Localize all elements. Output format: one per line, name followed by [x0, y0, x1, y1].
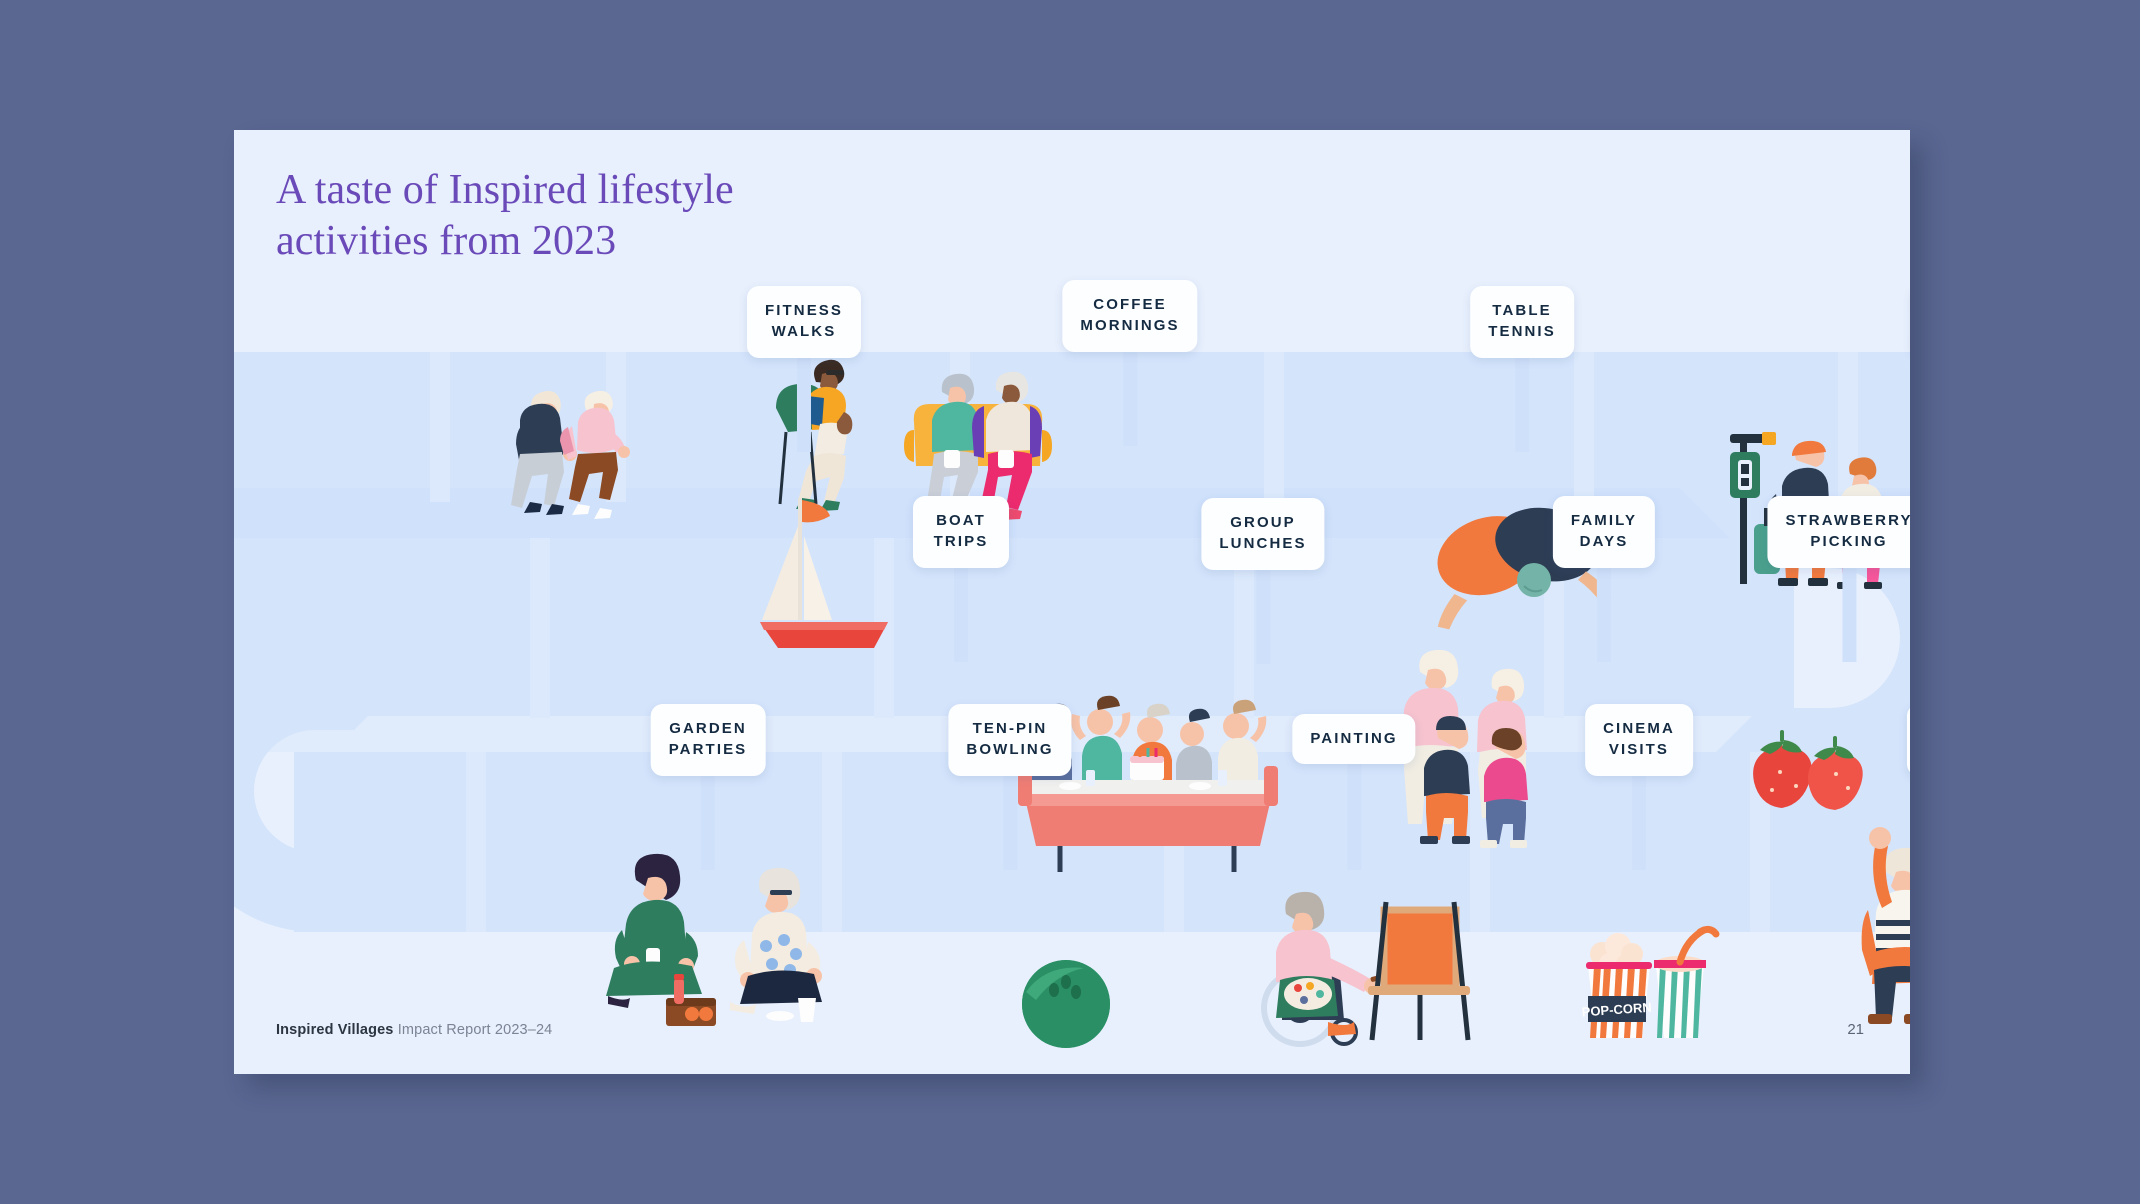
signpost-card[interactable]: CHRISTMAS PARTY — [1907, 704, 1910, 776]
footer: Inspired Villages Impact Report 2023–24 — [276, 1022, 552, 1038]
signpost-stem — [1347, 750, 1361, 870]
signpost-label-line2: VISITS — [1603, 739, 1675, 760]
signpost-boat-trips[interactable]: BOAT TRIPS — [913, 496, 1009, 568]
report-page: A taste of Inspired lifestyle activities… — [234, 130, 1910, 1074]
signpost-fitness-walks[interactable]: FITNESS WALKS — [747, 286, 861, 358]
signpost-garden-parties[interactable]: GARDEN PARTIES — [651, 704, 766, 776]
signpost-label-line1: GROUP — [1219, 512, 1306, 533]
signpost-card[interactable]: BOAT TRIPS — [913, 496, 1009, 568]
background-post — [430, 352, 450, 502]
signpost-card[interactable]: CINEMA VISITS — [1585, 704, 1693, 776]
signpost-card[interactable]: TEN-PIN BOWLING — [948, 704, 1071, 776]
signpost-label-line1: STRAWBERRY — [1785, 510, 1910, 531]
signpost-painting[interactable]: PAINTING — [1292, 714, 1415, 764]
path-curve-left — [234, 650, 434, 932]
illustration-cinema-visits: POP-CORN — [1572, 918, 1722, 1043]
signpost-family-days[interactable]: FAMILY DAYS — [1553, 496, 1655, 568]
illustration-painting — [1252, 882, 1482, 1062]
signpost-label-line1: PAINTING — [1310, 728, 1397, 749]
footer-text: Impact Report 2023–24 — [394, 1022, 553, 1038]
illustration-strawberry-picking — [1744, 728, 1874, 818]
page-title-line2: activities from 2023 — [276, 216, 896, 267]
signpost-label-line1: TABLE — [1488, 300, 1556, 321]
background-post — [1574, 352, 1594, 502]
signpost-label-line2: LUNCHES — [1219, 533, 1306, 554]
signpost-label-line2: PARTIES — [669, 739, 748, 760]
signpost-table-tennis[interactable]: TABLE TENNIS — [1470, 286, 1574, 358]
signpost-label-line2: DAYS — [1571, 531, 1637, 552]
signpost-card[interactable]: FITNESS WALKS — [747, 286, 861, 358]
signpost-label-line2: BOWLING — [966, 739, 1053, 760]
signpost-label-line2: MORNINGS — [1080, 315, 1179, 336]
signpost-coffee-mornings[interactable]: COFFEE MORNINGS — [1062, 280, 1197, 352]
signpost-strawberry-picking[interactable]: STRAWBERRY PICKING — [1767, 496, 1910, 568]
signpost-label-line2: TRIPS — [931, 531, 991, 552]
page-title-line1: A taste of Inspired lifestyle — [276, 165, 896, 216]
illustration-christmas-party — [1852, 820, 1910, 1030]
signpost-label-line1: CINEMA — [1603, 718, 1675, 739]
screenshot-stage: A taste of Inspired lifestyle activities… — [0, 0, 2140, 1204]
signpost-card[interactable]: FAMILY DAYS — [1553, 496, 1655, 568]
signpost-card[interactable]: COFFEE MORNINGS — [1062, 280, 1197, 352]
signpost-label-line1: BOAT — [931, 510, 991, 531]
signpost-group-lunches[interactable]: GROUP LUNCHES — [1201, 498, 1324, 570]
signpost-label-line2: TENNIS — [1488, 321, 1556, 342]
illustration-ten-pin-bowling — [1018, 956, 1114, 1052]
illustration-fitness-walks — [480, 360, 640, 510]
background-post — [466, 752, 486, 932]
signpost-label-line2: WALKS — [765, 321, 843, 342]
footer-brand: Inspired Villages — [276, 1022, 394, 1038]
signpost-label-line1: TEN-PIN — [966, 718, 1053, 739]
illustration-coffee-mornings — [764, 352, 884, 512]
signpost-card[interactable]: STRAWBERRY PICKING — [1767, 496, 1910, 568]
illustration-family-days — [1392, 640, 1562, 835]
signpost-card[interactable]: PAINTING — [1292, 714, 1415, 764]
illustration-garden-parties — [602, 840, 852, 1040]
signpost-ten-pin-bowling[interactable]: TEN-PIN BOWLING — [948, 704, 1071, 776]
signpost-label-line1: GARDEN — [669, 718, 748, 739]
signpost-label-line1: FAMILY — [1571, 510, 1637, 531]
signpost-card[interactable]: GARDEN PARTIES — [651, 704, 766, 776]
page-title: A taste of Inspired lifestyle activities… — [276, 165, 896, 267]
signpost-label-line2: PICKING — [1785, 531, 1910, 552]
background-post — [1264, 352, 1284, 502]
background-post — [530, 538, 550, 718]
signpost-cinema-visits[interactable]: CINEMA VISITS — [1585, 704, 1693, 776]
signpost-label-line1: FITNESS — [765, 300, 843, 321]
signpost-christmas-party[interactable]: CHRISTMAS PARTY — [1907, 704, 1910, 776]
signpost-card[interactable]: GROUP LUNCHES — [1201, 498, 1324, 570]
signpost-card[interactable]: TABLE TENNIS — [1470, 286, 1574, 358]
signpost-label-line1: COFFEE — [1080, 294, 1179, 315]
